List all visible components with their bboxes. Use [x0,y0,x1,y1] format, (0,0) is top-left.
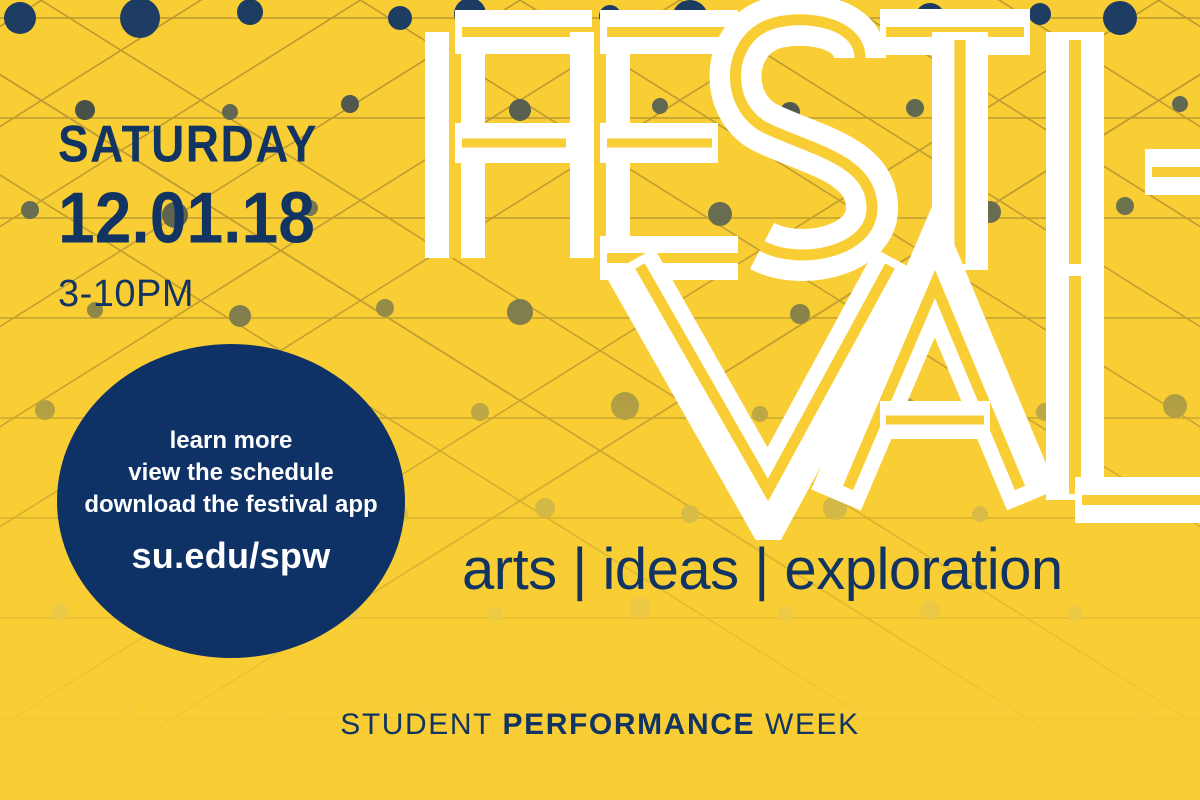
event-time: 3-10PM [58,275,318,313]
banner-emphasis: PERFORMANCE [502,708,755,741]
badge-text-group: learn more view the schedule download th… [84,425,377,577]
badge-url-link[interactable]: su.edu/spw [84,535,377,577]
badge-line-view-schedule: view the schedule [84,457,377,489]
badge-line-download-app: download the festival app [84,489,377,521]
bottom-banner: STUDENT PERFORMANCE WEEK [0,708,1200,742]
festival-poster: SATURDAY 12.01.18 3-10PM [0,0,1200,800]
badge-line-learn-more: learn more [84,425,377,457]
banner-prefix: STUDENT [340,708,502,741]
banner-suffix: WEEK [755,708,860,741]
event-date-block: SATURDAY 12.01.18 3-10PM [58,118,318,313]
tagline: arts | ideas | exploration [462,538,1063,602]
info-badge-circle[interactable]: learn more view the schedule download th… [57,344,405,658]
event-date: 12.01.18 [58,181,318,254]
event-weekday: SATURDAY [58,118,318,170]
